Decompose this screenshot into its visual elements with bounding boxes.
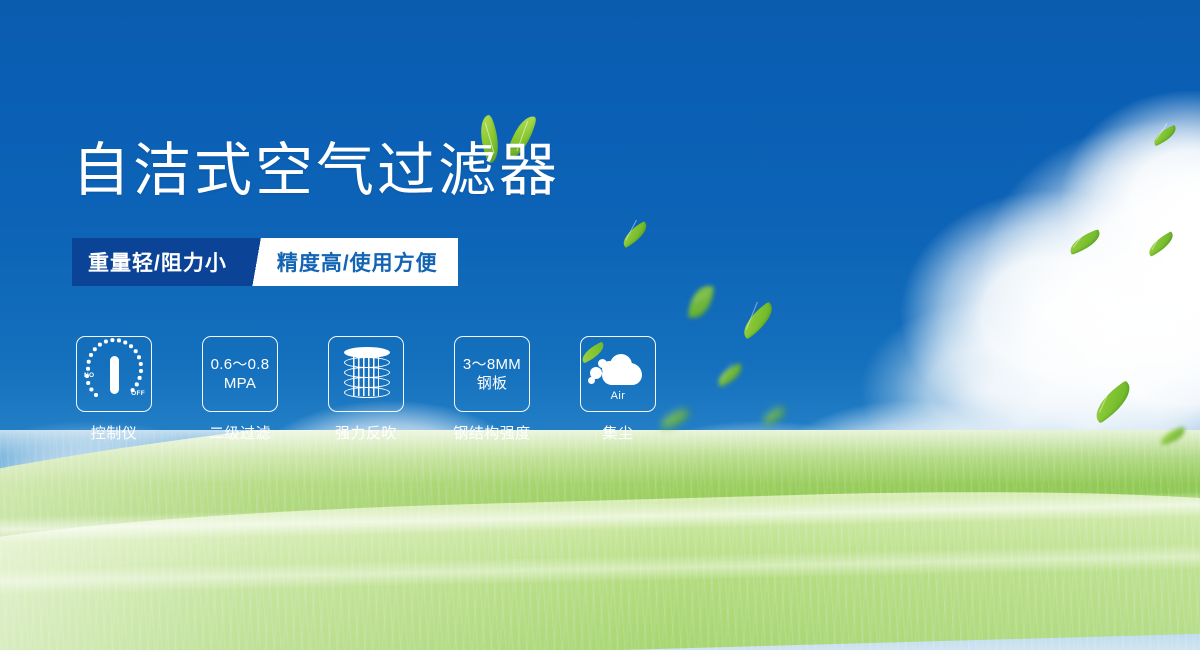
feature-label: 控制仪 [91,422,138,443]
feature-label: 强力反吹 [335,422,397,443]
feature-text-line2: 钢板 [477,374,508,393]
feature-text-line1: 3〜8MM [463,355,521,374]
air-caption: Air [588,390,648,402]
feature-box: 0.6〜0.8 MPA [202,336,278,412]
feature-item-steel: 3〜8MM 钢板 钢结构强度 [454,336,530,443]
feature-box [328,336,404,412]
feature-text-line2: MPA [224,374,256,393]
feature-text-line1: 0.6〜0.8 [211,355,270,374]
gauge-icon: NO OFF [85,347,143,401]
feature-list: NO OFF 控制仪 0.6〜0.8 MPA 二级过滤 [76,336,656,443]
filter-stack-icon [342,347,390,401]
gauge-label-off: OFF [131,390,145,397]
feature-item-dust: Air 集尘 [580,336,656,443]
gauge-label-no: NO [84,372,94,379]
subtitle-divider [245,238,271,286]
feature-item-pressure: 0.6〜0.8 MPA 二级过滤 [202,336,278,443]
feature-label: 集尘 [602,422,633,443]
feature-label: 二级过滤 [209,422,271,443]
feature-box: 3〜8MM 钢板 [454,336,530,412]
air-cloud-icon: Air [588,349,648,399]
feature-box: NO OFF [76,336,152,412]
gauge-needle [110,356,119,394]
product-banner: 自洁式空气过滤器 重量轻/阻力小 精度高/使用方便 [0,0,1200,650]
feature-box: Air [580,336,656,412]
feature-label: 钢结构强度 [453,422,531,443]
feature-item-blowback: 强力反吹 [328,336,404,443]
subtitle-right: 精度高/使用方便 [271,238,458,286]
page-title: 自洁式空气过滤器 [72,142,560,200]
feature-item-control: NO OFF 控制仪 [76,336,152,443]
subtitle-bar: 重量轻/阻力小 精度高/使用方便 [72,238,458,286]
subtitle-left: 重量轻/阻力小 [72,238,245,286]
grass-field [0,430,1200,650]
